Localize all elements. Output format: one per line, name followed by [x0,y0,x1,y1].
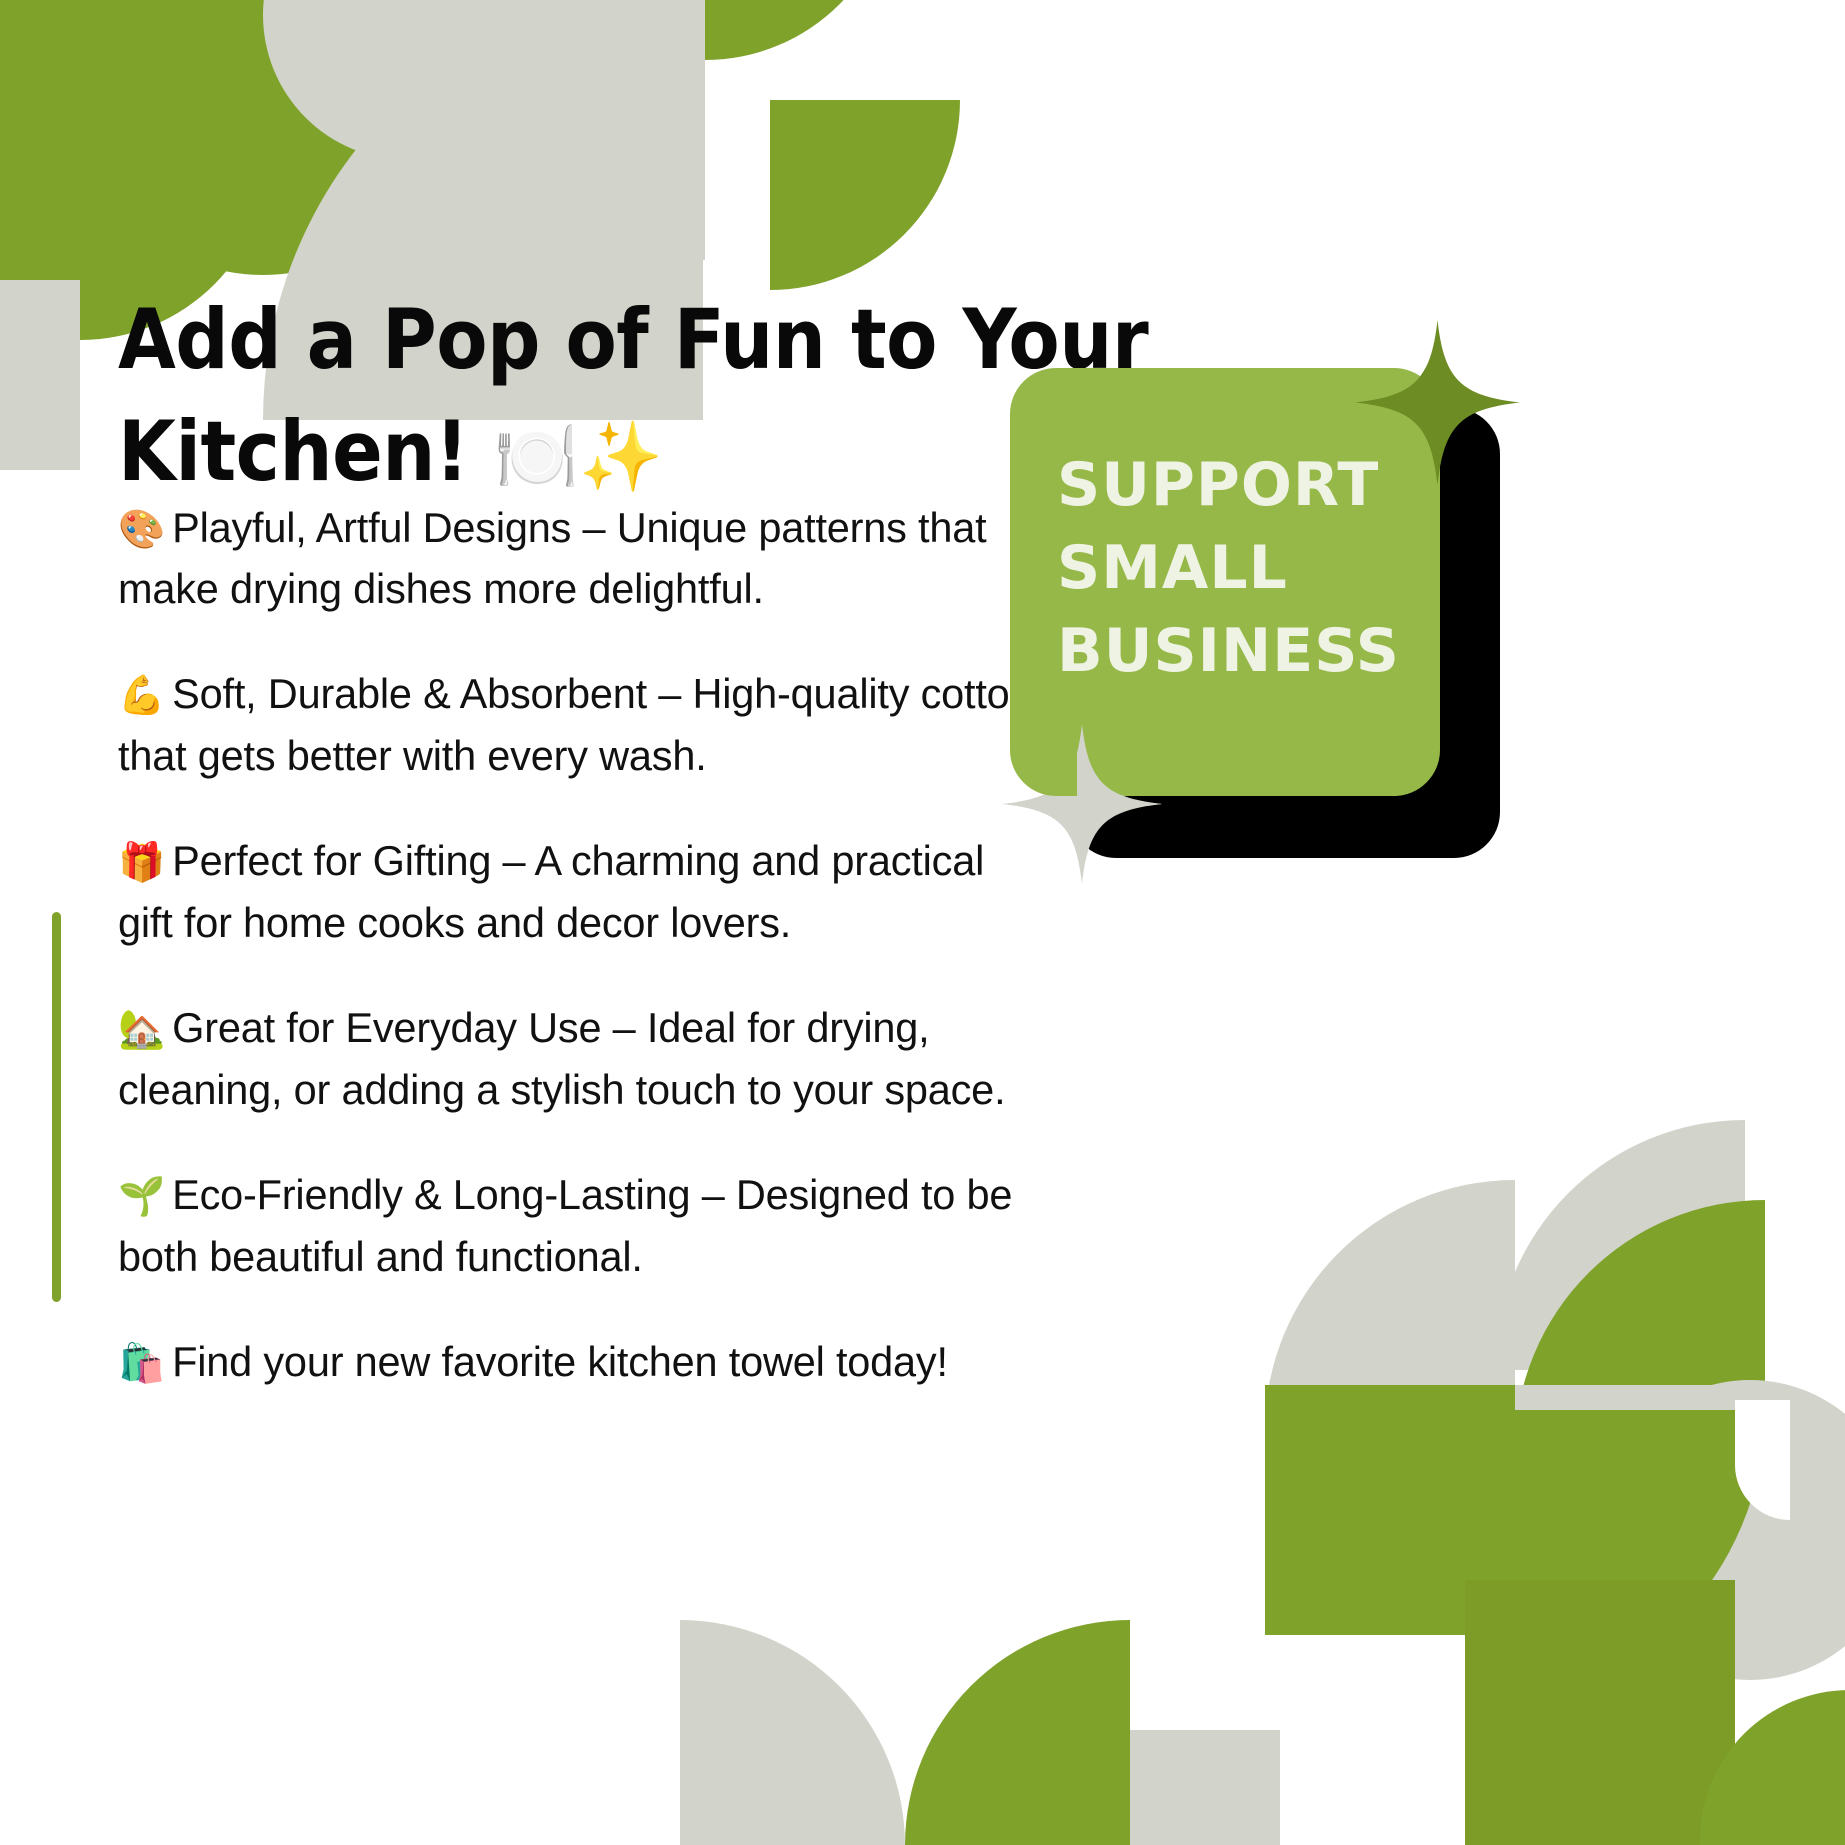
dark-green-rect-br [1465,1580,1735,1845]
grey-rect-bc [1130,1730,1280,1845]
badge-line-2: SMALL [1057,527,1457,610]
badge-text: SUPPORT SMALL BUSINESS [1057,444,1457,692]
wrapped-gift-emoji: 🎁 [118,842,165,884]
green-quarter-circle-shape-2 [770,100,960,290]
list-item: 🎨Playful, Artful Designs – Unique patter… [118,497,1033,620]
grey-strip-shape [520,0,705,260]
feature-list: 🎨Playful, Artful Designs – Unique patter… [118,455,1033,1393]
promo-poster: Add a Pop of Fun to Your Kitchen! 🍽️✨ 🎨P… [0,0,1845,1845]
artist-palette-emoji: 🎨 [118,509,165,551]
list-item: 🏡Great for Everyday Use – Ideal for dryi… [118,997,1033,1120]
list-item: 💪Soft, Durable & Absorbent – High-qualit… [118,663,1033,786]
list-item-text: Great for Everyday Use – Ideal for dryin… [118,1004,1005,1113]
green-quarter-circle-bc [905,1620,1130,1845]
badge-line-1: SUPPORT [1057,444,1457,527]
grey-quarter-circle-bc [680,1620,905,1845]
list-item: 🌱Eco-Friendly & Long-Lasting – Designed … [118,1164,1033,1287]
badge-line-3: BUSINESS [1057,610,1457,693]
flexed-biceps-emoji: 💪 [118,675,165,717]
seedling-emoji: 🌱 [118,1176,165,1218]
list-item: 🎁Perfect for Gifting – A charming and pr… [118,830,1033,953]
list-item-text: Eco-Friendly & Long-Lasting – Designed t… [118,1171,1012,1280]
grey-square-shape [0,280,80,470]
list-item-text: Soft, Durable & Absorbent – High-quality… [118,670,1032,779]
green-vertical-rule [52,912,61,1302]
support-small-business-badge: SUPPORT SMALL BUSINESS [1010,368,1510,858]
list-item-text: Find your new favorite kitchen towel tod… [172,1338,948,1385]
list-item-text: Perfect for Gifting – A charming and pra… [118,837,984,946]
shopping-bags-emoji: 🛍️ [118,1343,165,1385]
green-quarter-circle-shape [705,0,895,60]
list-item: 🛍️Find your new favorite kitchen towel t… [118,1331,1033,1393]
list-item-text: Playful, Artful Designs – Unique pattern… [118,504,986,613]
house-with-garden-emoji: 🏡 [118,1009,165,1051]
